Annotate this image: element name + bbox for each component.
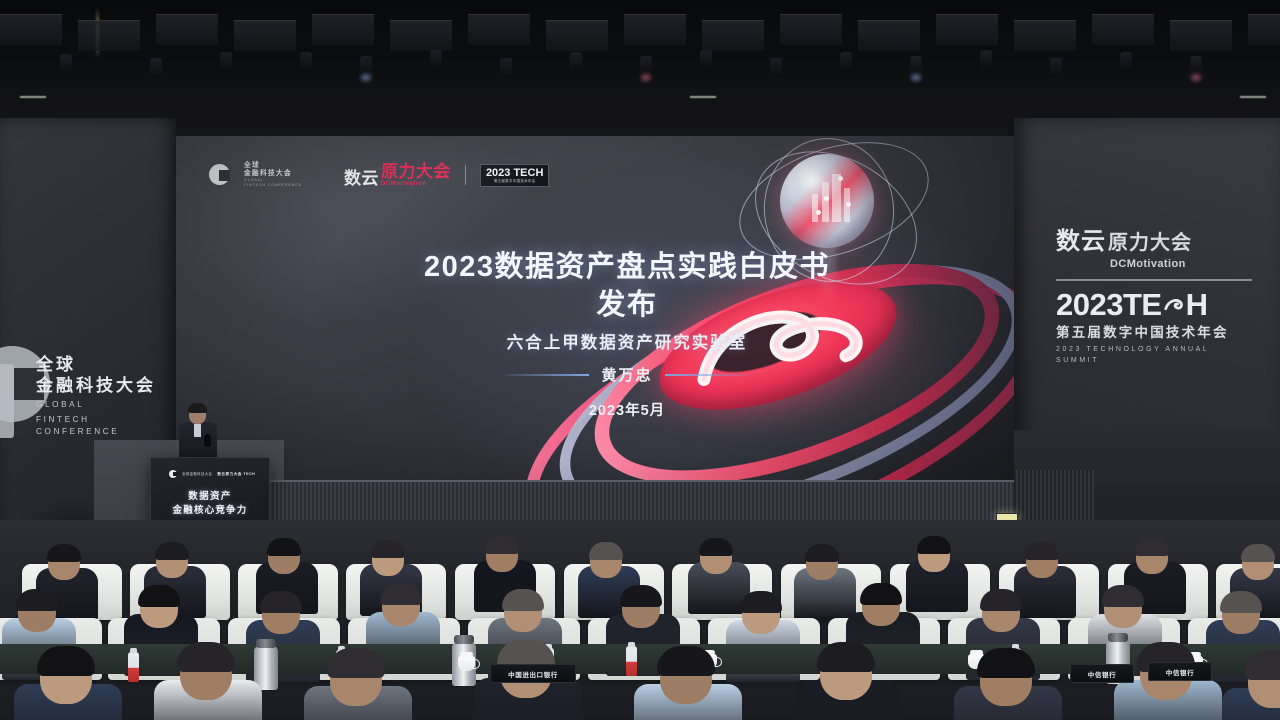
right-wall-tech-pre: TE <box>1123 288 1162 322</box>
right-wall-divider <box>1056 279 1252 281</box>
audience-person-hair <box>37 646 95 676</box>
podium-logo-row: 全球金融科技大会 数云原力大会 TECH <box>169 470 255 478</box>
audience-person-hair <box>917 536 951 554</box>
audience-person-hair <box>1025 542 1059 560</box>
main-led-screen: 全球 金融科技大会 GLOBAL FINTECH CONFERENCE 数云 原… <box>176 136 1014 480</box>
stage-light <box>980 50 992 70</box>
audience-area: 中国进出口银行中信银行中信银行 <box>0 520 1280 720</box>
truss-segment <box>234 20 296 51</box>
truss-segment <box>546 20 608 51</box>
left-wall-cn-line1: 全球 <box>36 354 168 375</box>
audience-person-hair <box>327 648 385 678</box>
truss-segment <box>1092 14 1154 45</box>
audience-person-hair <box>657 646 715 676</box>
right-wall-tech-post: H <box>1186 288 1208 322</box>
truss-segment <box>0 14 62 45</box>
audience-person-hair <box>16 589 58 611</box>
truss-segment <box>858 20 920 51</box>
audience-person-hair <box>177 642 235 672</box>
audience-person-hair <box>740 591 782 613</box>
truss-segment <box>624 14 686 45</box>
right-wall-en-event: 2023 TECHNOLOGY ANNUAL SUMMIT <box>1056 344 1252 366</box>
podium-line1: 数据资产 <box>151 490 269 504</box>
stage-light <box>640 56 652 76</box>
right-wall-year: 2023 <box>1056 288 1123 322</box>
name-plate-label: 中国进出口银行 <box>508 669 558 679</box>
name-plate-label: 中信银行 <box>1088 669 1116 679</box>
stage-light <box>500 58 512 78</box>
left-wall-branding: 全球 金融科技大会 GLOBAL FINTECH CONFERENCE <box>36 354 168 438</box>
handheld-microphone-icon <box>204 434 211 447</box>
speaker-hair <box>188 403 207 413</box>
left-wall-en-line1: GLOBAL <box>36 399 168 411</box>
audience-person-hair <box>1102 585 1144 607</box>
stage-light <box>700 50 712 70</box>
audience-person-hair <box>502 589 544 611</box>
tea-cup <box>458 656 475 671</box>
audience-person-hair <box>805 544 839 562</box>
stage-light <box>60 54 72 74</box>
podium-logo-cn: 全球金融科技大会 <box>182 472 212 476</box>
podium-line2: 金融核心竞争力 <box>151 504 269 518</box>
stage-light <box>1050 58 1062 78</box>
truss-segment <box>1014 20 1076 51</box>
name-plate: 中信银行 <box>1148 662 1212 681</box>
audience-person-hair <box>47 544 81 562</box>
stage-light <box>360 56 372 76</box>
stage-light <box>1190 56 1202 76</box>
audience-person-hair <box>260 591 302 613</box>
name-plate: 中国进出口银行 <box>490 664 576 683</box>
podium-title-block: 数据资产 金融核心竞争力 <box>151 490 269 518</box>
right-wall-tech-line: 2023 TE H <box>1056 288 1252 322</box>
left-wall-cn-line2: 金融科技大会 <box>36 375 168 396</box>
audience-person-hair <box>1135 538 1169 556</box>
stage-light-glow <box>361 74 371 81</box>
conference-stage-scene: 全球 金融科技大会 GLOBAL FINTECH CONFERENCE 全球 金… <box>0 0 1280 720</box>
truss-segment <box>78 20 140 51</box>
audience-person-hair <box>1220 591 1262 613</box>
audience-person-hair <box>817 642 875 672</box>
truss-segment <box>1248 14 1280 45</box>
audience-person-hair <box>699 538 733 556</box>
ceiling-light-strip <box>20 96 46 98</box>
truss-segment <box>468 14 530 45</box>
podium-logo-badge: 数云原力大会 TECH <box>217 472 255 477</box>
right-wall-en-sub: DCMotivation <box>1110 258 1252 270</box>
truss-segment <box>156 14 218 45</box>
right-wall-branding: 数云 原力大会 DCMotivation 2023 TE H 第五届数字中国技术… <box>1056 228 1252 366</box>
audience-person-hair <box>977 648 1035 678</box>
audience-person-hair <box>138 585 180 607</box>
audience-person-hair <box>620 585 662 607</box>
right-wall-cn-main: 数云 <box>1056 228 1106 256</box>
stage-light <box>300 52 312 72</box>
stage-light <box>910 56 922 76</box>
ceiling-truss-area <box>0 0 1280 108</box>
right-wall-cn-event: 第五届数字中国技术年会 <box>1056 324 1252 342</box>
truss-segment <box>780 14 842 45</box>
name-plate: 中信银行 <box>1070 664 1134 683</box>
stage-light <box>430 50 442 70</box>
audience-person-hair <box>860 583 902 605</box>
audience-person-hair <box>485 536 519 554</box>
stage-light-glow <box>911 74 921 81</box>
stage-light <box>150 58 162 78</box>
audience-person-hair <box>371 540 405 558</box>
stage-light <box>570 52 582 72</box>
right-wall-cn-accent: 原力大会 <box>1108 229 1192 257</box>
water-bottle <box>128 652 139 682</box>
audience-person-hair <box>155 542 189 560</box>
screen-vignette <box>176 136 1014 480</box>
audience-person-hair <box>267 538 301 556</box>
truss-segment <box>702 20 764 51</box>
ceiling-light-strip <box>690 96 716 98</box>
swirl-e-icon <box>1163 294 1185 316</box>
audience-person-hair <box>1241 544 1275 562</box>
stage-light <box>770 58 782 78</box>
stage-light-glow <box>1191 74 1201 81</box>
water-bottle <box>626 646 637 676</box>
truss-segment <box>936 14 998 45</box>
stage-light <box>220 52 232 72</box>
podium-fintech-mark-icon <box>169 470 177 478</box>
truss-segment <box>390 20 452 51</box>
truss-segment <box>1170 20 1232 51</box>
ceiling-light-strip <box>1240 96 1266 98</box>
audience-person-hair <box>380 583 422 605</box>
stage-light-glow <box>641 74 651 81</box>
stage-light <box>840 52 852 72</box>
audience-person-hair <box>589 542 623 560</box>
left-wall-en-line2: FINTECH CONFERENCE <box>36 414 168 438</box>
audience-person-hair <box>980 589 1022 611</box>
truss-segment <box>312 14 374 45</box>
stage-light <box>1120 52 1132 72</box>
name-plate-label: 中信银行 <box>1166 667 1194 677</box>
speaker-shirt <box>194 424 201 437</box>
